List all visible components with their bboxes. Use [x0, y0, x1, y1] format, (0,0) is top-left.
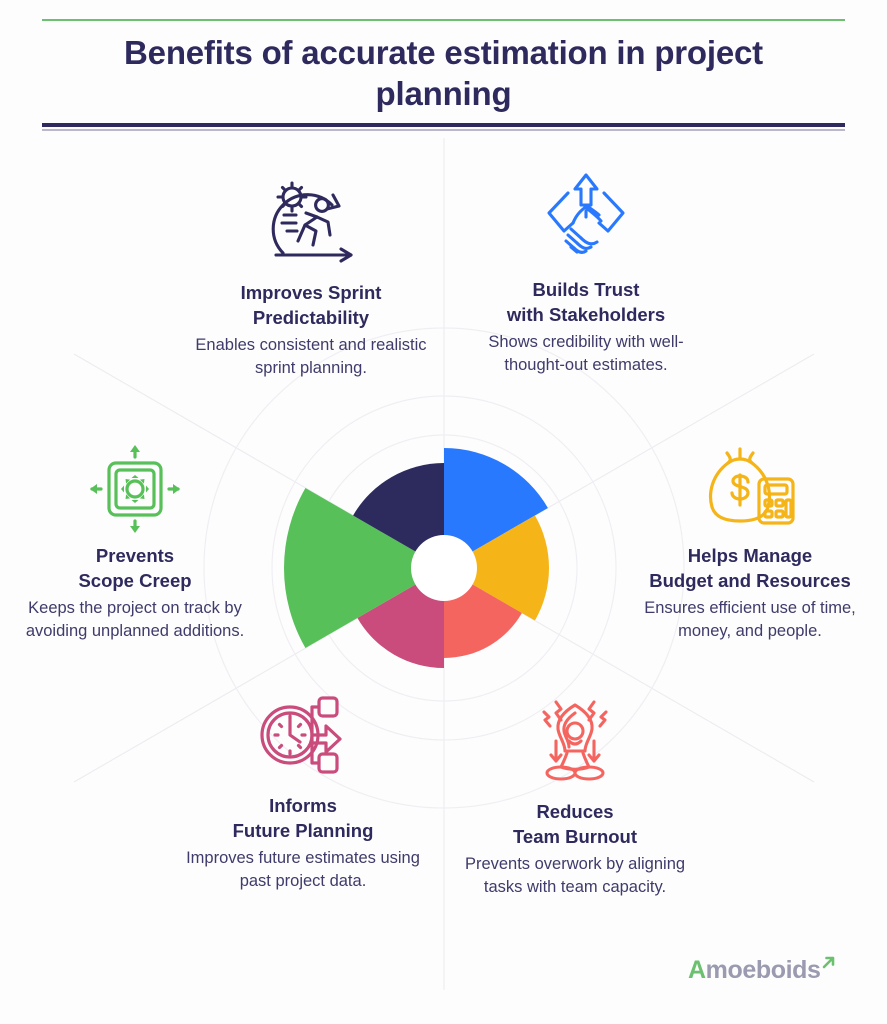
- icon-box-scope: [24, 437, 246, 541]
- brand-logo[interactable]: Amoeboids: [688, 952, 858, 988]
- infographic-canvas: Benefits of accurate estimation in proje…: [0, 0, 887, 1024]
- gear-in-square-arrows-icon: [87, 442, 183, 536]
- benefit-title-scope: Prevents Scope Creep: [24, 543, 246, 594]
- clock-arrow-nodes-icon: [253, 686, 353, 784]
- benefit-card-informs: Informs Future Planning Improves future …: [182, 679, 424, 894]
- benefit-title-budget: Helps Manage Budget and Resources: [626, 543, 874, 594]
- icon-box-informs: [182, 679, 424, 791]
- brand-arrow-icon: [821, 955, 837, 971]
- benefit-desc-informs: Improves future estimates using past pro…: [182, 847, 424, 894]
- benefit-card-scope: Prevents Scope Creep Keeps the project o…: [24, 437, 246, 644]
- icon-box-burnout: [460, 685, 690, 797]
- brand-logo-initial: A: [688, 956, 706, 984]
- brand-logo-rest: moeboids: [706, 956, 821, 984]
- stressed-person-icon: [523, 693, 627, 789]
- handshake-arrow-up-icon: [537, 171, 635, 267]
- runner-gear-sprint-icon: [261, 173, 361, 271]
- benefit-title-burnout: Reduces Team Burnout: [460, 799, 690, 850]
- benefit-card-sprint: Improves Sprint Predictability Enables c…: [184, 166, 438, 381]
- benefit-card-budget: Helps Manage Budget and Resources Ensure…: [626, 437, 874, 644]
- money-bag-calculator-icon: [698, 441, 802, 537]
- benefit-desc-trust: Shows credibility with well-thought-out …: [460, 331, 712, 378]
- brand-logo-text: Amoeboids: [688, 958, 821, 983]
- benefit-desc-budget: Ensures efficient use of time, money, an…: [626, 597, 874, 644]
- benefit-title-informs: Informs Future Planning: [182, 793, 424, 844]
- benefit-title-trust: Builds Trust with Stakeholders: [460, 277, 712, 328]
- header-rule-thick: [42, 123, 845, 127]
- icon-box-sprint: [184, 166, 438, 278]
- benefit-desc-scope: Keeps the project on track by avoiding u…: [24, 597, 246, 644]
- header-rule-thin: [42, 129, 845, 131]
- benefit-desc-sprint: Enables consistent and realistic sprint …: [184, 334, 438, 381]
- rose-center-hub: [411, 535, 477, 601]
- benefit-card-trust: Builds Trust with Stakeholders Shows cre…: [460, 163, 712, 378]
- header-bottom-rule: [42, 123, 845, 132]
- icon-box-budget: [626, 437, 874, 541]
- benefit-title-sprint: Improves Sprint Predictability: [184, 280, 438, 331]
- icon-box-trust: [460, 163, 712, 275]
- header-top-rule: [42, 19, 845, 21]
- benefit-desc-burnout: Prevents overwork by aligning tasks with…: [460, 853, 690, 900]
- benefit-card-burnout: Reduces Team Burnout Prevents overwork b…: [460, 685, 690, 900]
- page-title: Benefits of accurate estimation in proje…: [90, 32, 797, 115]
